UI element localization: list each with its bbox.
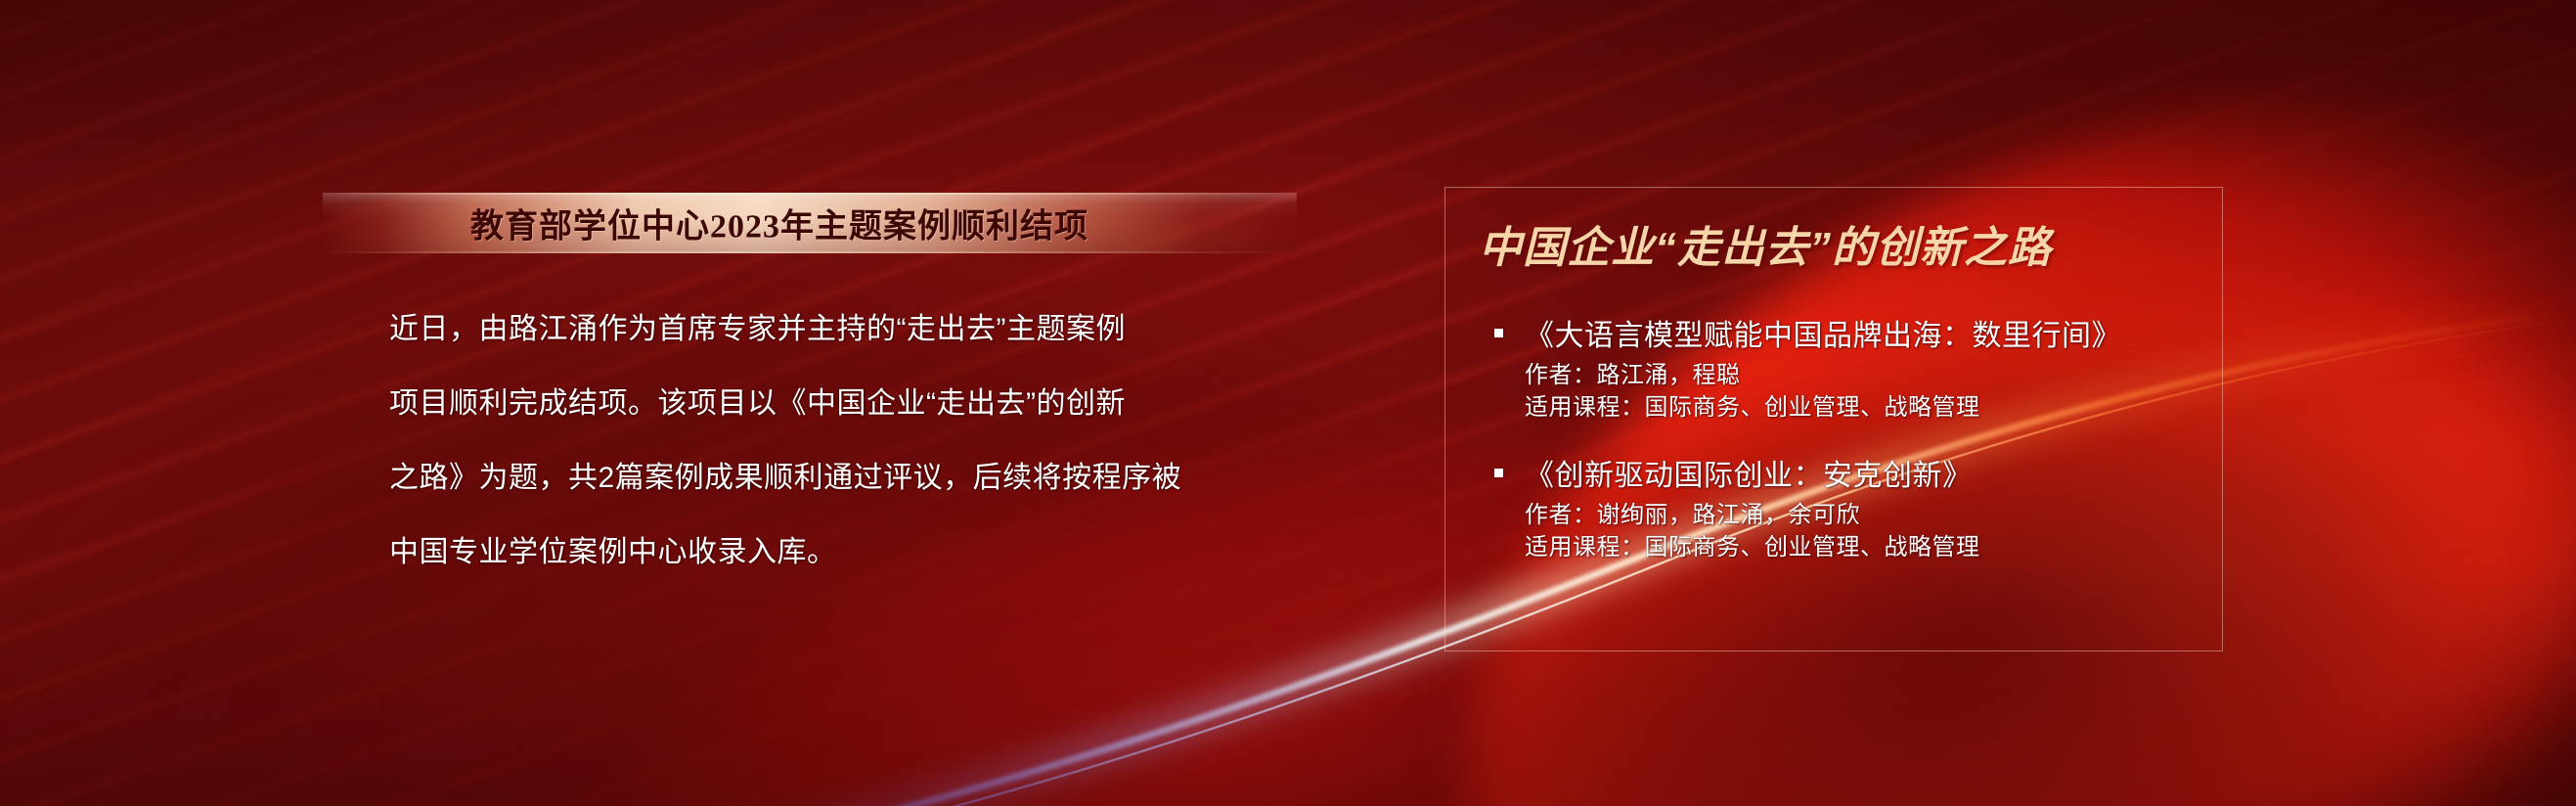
square-bullet-icon (1494, 329, 1503, 337)
case-title-row: 《大语言模型赋能中国品牌出海：数里行间》 (1494, 311, 2218, 354)
article-line: 中国专业学位案例中心收录入库。 (389, 515, 1269, 590)
case-list: 《大语言模型赋能中国品牌出海：数里行间》 作者：路江涌，程聪 适用课程：国际商务… (1494, 311, 2218, 591)
ribbon-banner: 教育部学位中心2023年主题案例顺利结项 (323, 193, 1297, 253)
banner-title: 教育部学位中心2023年主题案例顺利结项 (323, 200, 1297, 247)
article-line: 项目顺利完成结项。该项目以《中国企业“走出去”的创新 (389, 367, 1269, 441)
banner-canvas: 教育部学位中心2023年主题案例顺利结项 近日，由路江涌作为首席专家并主持的“走… (0, 0, 2576, 806)
article-line: 之路》为题，共2篇案例成果顺利通过评议，后续将按程序被 (389, 441, 1269, 515)
case-title: 《创新驱动国际创业：安克创新》 (1525, 451, 1973, 494)
list-item: 《创新驱动国际创业：安克创新》 作者：谢绚丽，路江涌，余可欣 适用课程：国际商务… (1494, 451, 2218, 563)
ribbon-edge-top (323, 193, 1297, 195)
ribbon-edge-bottom (323, 251, 1297, 253)
article-line: 近日，由路江涌作为首席专家并主持的“走出去”主题案例 (389, 292, 1269, 367)
case-title-row: 《创新驱动国际创业：安克创新》 (1494, 451, 2218, 494)
square-bullet-icon (1494, 469, 1503, 477)
case-courses: 适用课程：国际商务、创业管理、战略管理 (1525, 391, 2218, 424)
article-body: 近日，由路江涌作为首席专家并主持的“走出去”主题案例 项目顺利完成结项。该项目以… (389, 292, 1269, 590)
case-courses: 适用课程：国际商务、创业管理、战略管理 (1525, 531, 2218, 563)
list-item: 《大语言模型赋能中国品牌出海：数里行间》 作者：路江涌，程聪 适用课程：国际商务… (1494, 311, 2218, 424)
case-title: 《大语言模型赋能中国品牌出海：数里行间》 (1525, 311, 2121, 354)
case-authors: 作者：谢绚丽，路江涌，余可欣 (1525, 499, 2218, 531)
case-authors: 作者：路江涌，程聪 (1525, 359, 2218, 391)
panel-heading: 中国企业“走出去”的创新之路 (1479, 212, 2202, 275)
